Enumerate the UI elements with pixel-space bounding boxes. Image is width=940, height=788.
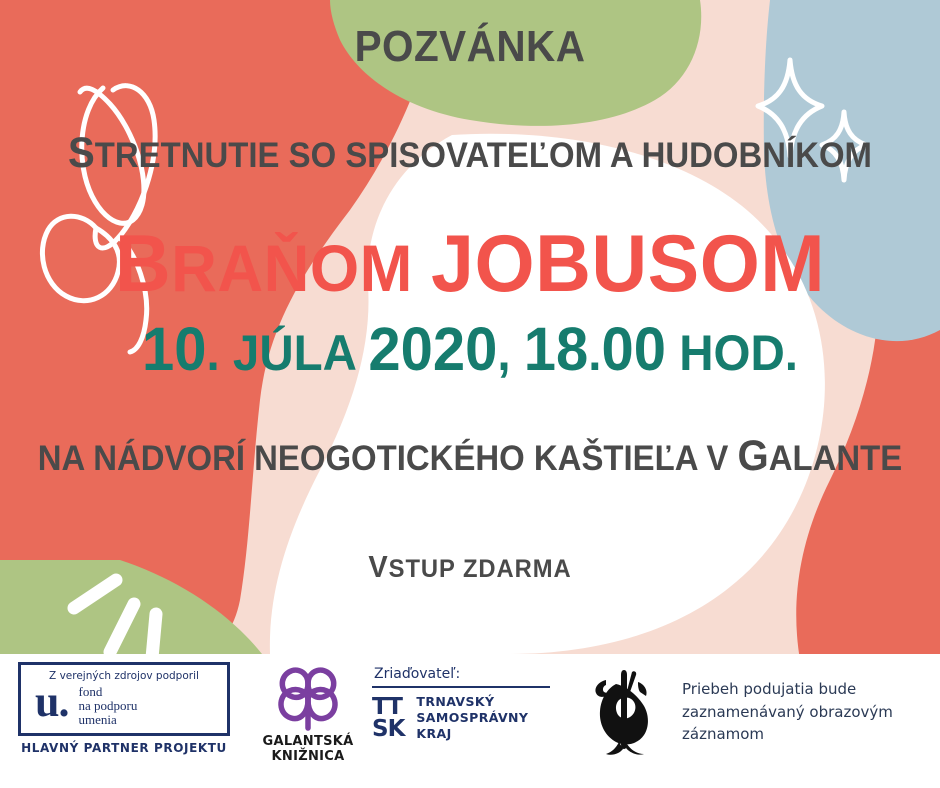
ttsk-name-line2: SAMOSPRÁVNY (416, 710, 528, 726)
poster-text-content: POZVÁNKA STRETNUTIE SO SPISOVATEĽOM A HU… (0, 0, 940, 654)
ttsk-logo: Zriaďovateľ: TT SK TRNAVSKÝ SAMOSPRÁVNY … (372, 666, 562, 742)
recording-notice-line3: záznamom (682, 723, 893, 746)
fpu-partner-caption: HLAVNÝ PARTNER PROJEKTU (18, 741, 230, 755)
library-name-line2: KNIŽNICA (252, 749, 364, 764)
poster-entry-fee: VSTUP ZDARMA (24, 550, 917, 585)
poster-footer-logos: Z verejných zdrojov podporil u. fond na … (0, 654, 940, 788)
fpu-word-fond: fond (78, 685, 137, 699)
galantska-kniznica-logo: GALANTSKÁ KNIŽNICA (252, 666, 364, 765)
poster-venue: NA NÁDVORÍ NEOGOTICKÉHO KAŠTIEĽA V GALAN… (28, 432, 912, 481)
fpu-word-umenia: umenia (78, 713, 137, 727)
recording-notice: Priebeh podujatia bude zaznamenávaný obr… (586, 666, 893, 758)
ttsk-name-line1: TRNAVSKÝ (416, 694, 528, 710)
violin-face-emblem-icon (586, 666, 660, 758)
recording-notice-line2: zaznamenávaný obrazovým (682, 701, 893, 724)
fpu-logo: Z verejných zdrojov podporil u. fond na … (18, 662, 230, 755)
library-name-line1: GALANTSKÁ (252, 734, 364, 749)
poster-headline-guest-name: BRAŇOM JOBUSOM (19, 218, 921, 311)
fpu-u-mark: u. (35, 684, 68, 720)
ttsk-monogram-line2: SK (372, 718, 404, 740)
poster-date-time: 10. JÚLA 2020, 18.00 HOD. (24, 314, 917, 384)
event-poster: POZVÁNKA STRETNUTIE SO SPISOVATEĽOM A HU… (0, 0, 940, 788)
fpu-word-na-podporu: na podporu (78, 699, 137, 713)
poster-subheadline: STRETNUTIE SO SPISOVATEĽOM A HUDOBNÍKOM (28, 129, 912, 178)
library-butterfly-icon (267, 666, 349, 732)
ttsk-monogram: TT SK (372, 696, 404, 740)
poster-kicker: POZVÁNKA (38, 22, 903, 72)
ttsk-monogram-line1: TT (372, 696, 404, 718)
fpu-logo-box: Z verejných zdrojov podporil u. fond na … (18, 662, 230, 736)
ttsk-name-line3: KRAJ (416, 726, 528, 742)
ttsk-divider (372, 686, 550, 688)
founder-label: Zriaďovateľ: (372, 666, 562, 682)
recording-notice-line1: Priebeh podujatia bude (682, 678, 893, 701)
